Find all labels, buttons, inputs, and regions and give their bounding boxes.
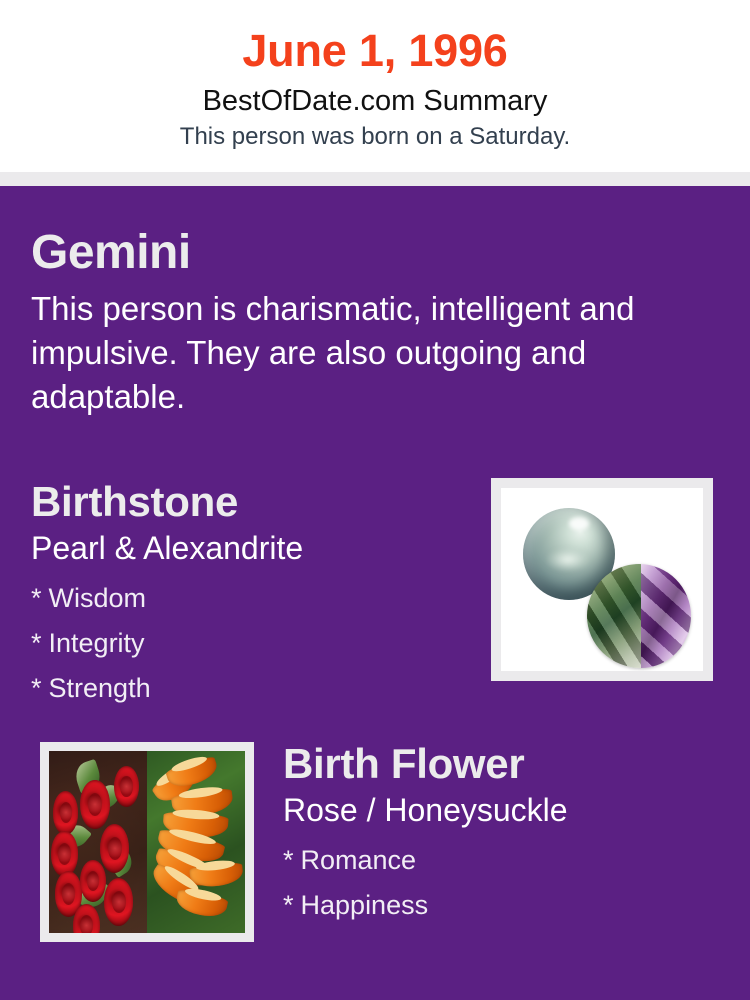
birthstone-trait-label: Strength xyxy=(49,673,151,703)
birthstone-title: Birthstone xyxy=(31,477,471,527)
birthstone-value: Pearl & Alexandrite xyxy=(31,527,471,568)
birthstone-photo xyxy=(501,488,703,671)
birth-flower-trait-label: Happiness xyxy=(301,890,429,920)
rose-bloom xyxy=(104,878,133,925)
birthstone-trait-label: Wisdom xyxy=(49,583,147,613)
header-divider xyxy=(0,172,750,186)
birth-weekday-note: This person was born on a Saturday. xyxy=(0,119,750,152)
orange-honeysuckle-image xyxy=(147,751,245,933)
birth-flower-photo xyxy=(49,751,245,933)
birth-flower-trait-label: Romance xyxy=(301,845,417,875)
list-item: *Wisdom xyxy=(31,576,471,621)
rose-bloom xyxy=(114,766,139,808)
honeysuckle-tube xyxy=(175,888,229,920)
flower-split-image xyxy=(49,751,245,933)
list-item: *Happiness xyxy=(283,883,723,928)
bullet-star-icon: * xyxy=(31,583,42,613)
bullet-star-icon: * xyxy=(31,628,42,658)
pearl-highlight xyxy=(569,517,589,530)
birth-flower-section: Birth Flower Rose / Honeysuckle *Romance… xyxy=(283,739,723,928)
page-title-date: June 1, 1996 xyxy=(0,0,750,78)
zodiac-section: Gemini This person is charismatic, intel… xyxy=(31,225,711,419)
bullet-star-icon: * xyxy=(283,845,294,875)
birthstone-trait-list: *Wisdom *Integrity *Strength xyxy=(31,568,471,711)
birthstone-section: Birthstone Pearl & Alexandrite *Wisdom *… xyxy=(31,477,471,711)
rose-bloom xyxy=(80,780,109,829)
list-item: *Strength xyxy=(31,666,471,711)
birth-flower-trait-list: *Romance *Happiness xyxy=(283,830,723,928)
list-item: *Romance xyxy=(283,838,723,883)
alexandrite-rough-half xyxy=(587,564,641,668)
birth-flower-photo-frame xyxy=(40,742,254,942)
birthstone-photo-frame xyxy=(491,478,713,681)
bullet-star-icon: * xyxy=(31,673,42,703)
header: June 1, 1996 BestOfDate.com Summary This… xyxy=(0,0,750,172)
rose-bloom xyxy=(80,860,105,902)
rose-bloom xyxy=(100,824,129,873)
alexandrite-faceted-half xyxy=(641,564,691,668)
zodiac-description: This person is charismatic, intelligent … xyxy=(31,281,696,419)
site-name: BestOfDate.com Summary xyxy=(0,78,750,119)
rose-bloom xyxy=(51,831,78,877)
tube-tip xyxy=(170,754,208,774)
alexandrite-gem-image xyxy=(587,564,691,668)
tube-tip xyxy=(185,886,223,902)
birth-flower-value: Rose / Honeysuckle xyxy=(283,789,723,830)
summary-card: June 1, 1996 BestOfDate.com Summary This… xyxy=(0,0,750,1000)
birth-flower-title: Birth Flower xyxy=(283,739,723,789)
bullet-star-icon: * xyxy=(283,890,294,920)
list-item: *Integrity xyxy=(31,621,471,666)
birthstone-trait-label: Integrity xyxy=(49,628,145,658)
red-roses-image xyxy=(49,751,147,933)
rose-bloom xyxy=(53,791,78,835)
zodiac-sign-title: Gemini xyxy=(31,225,711,281)
